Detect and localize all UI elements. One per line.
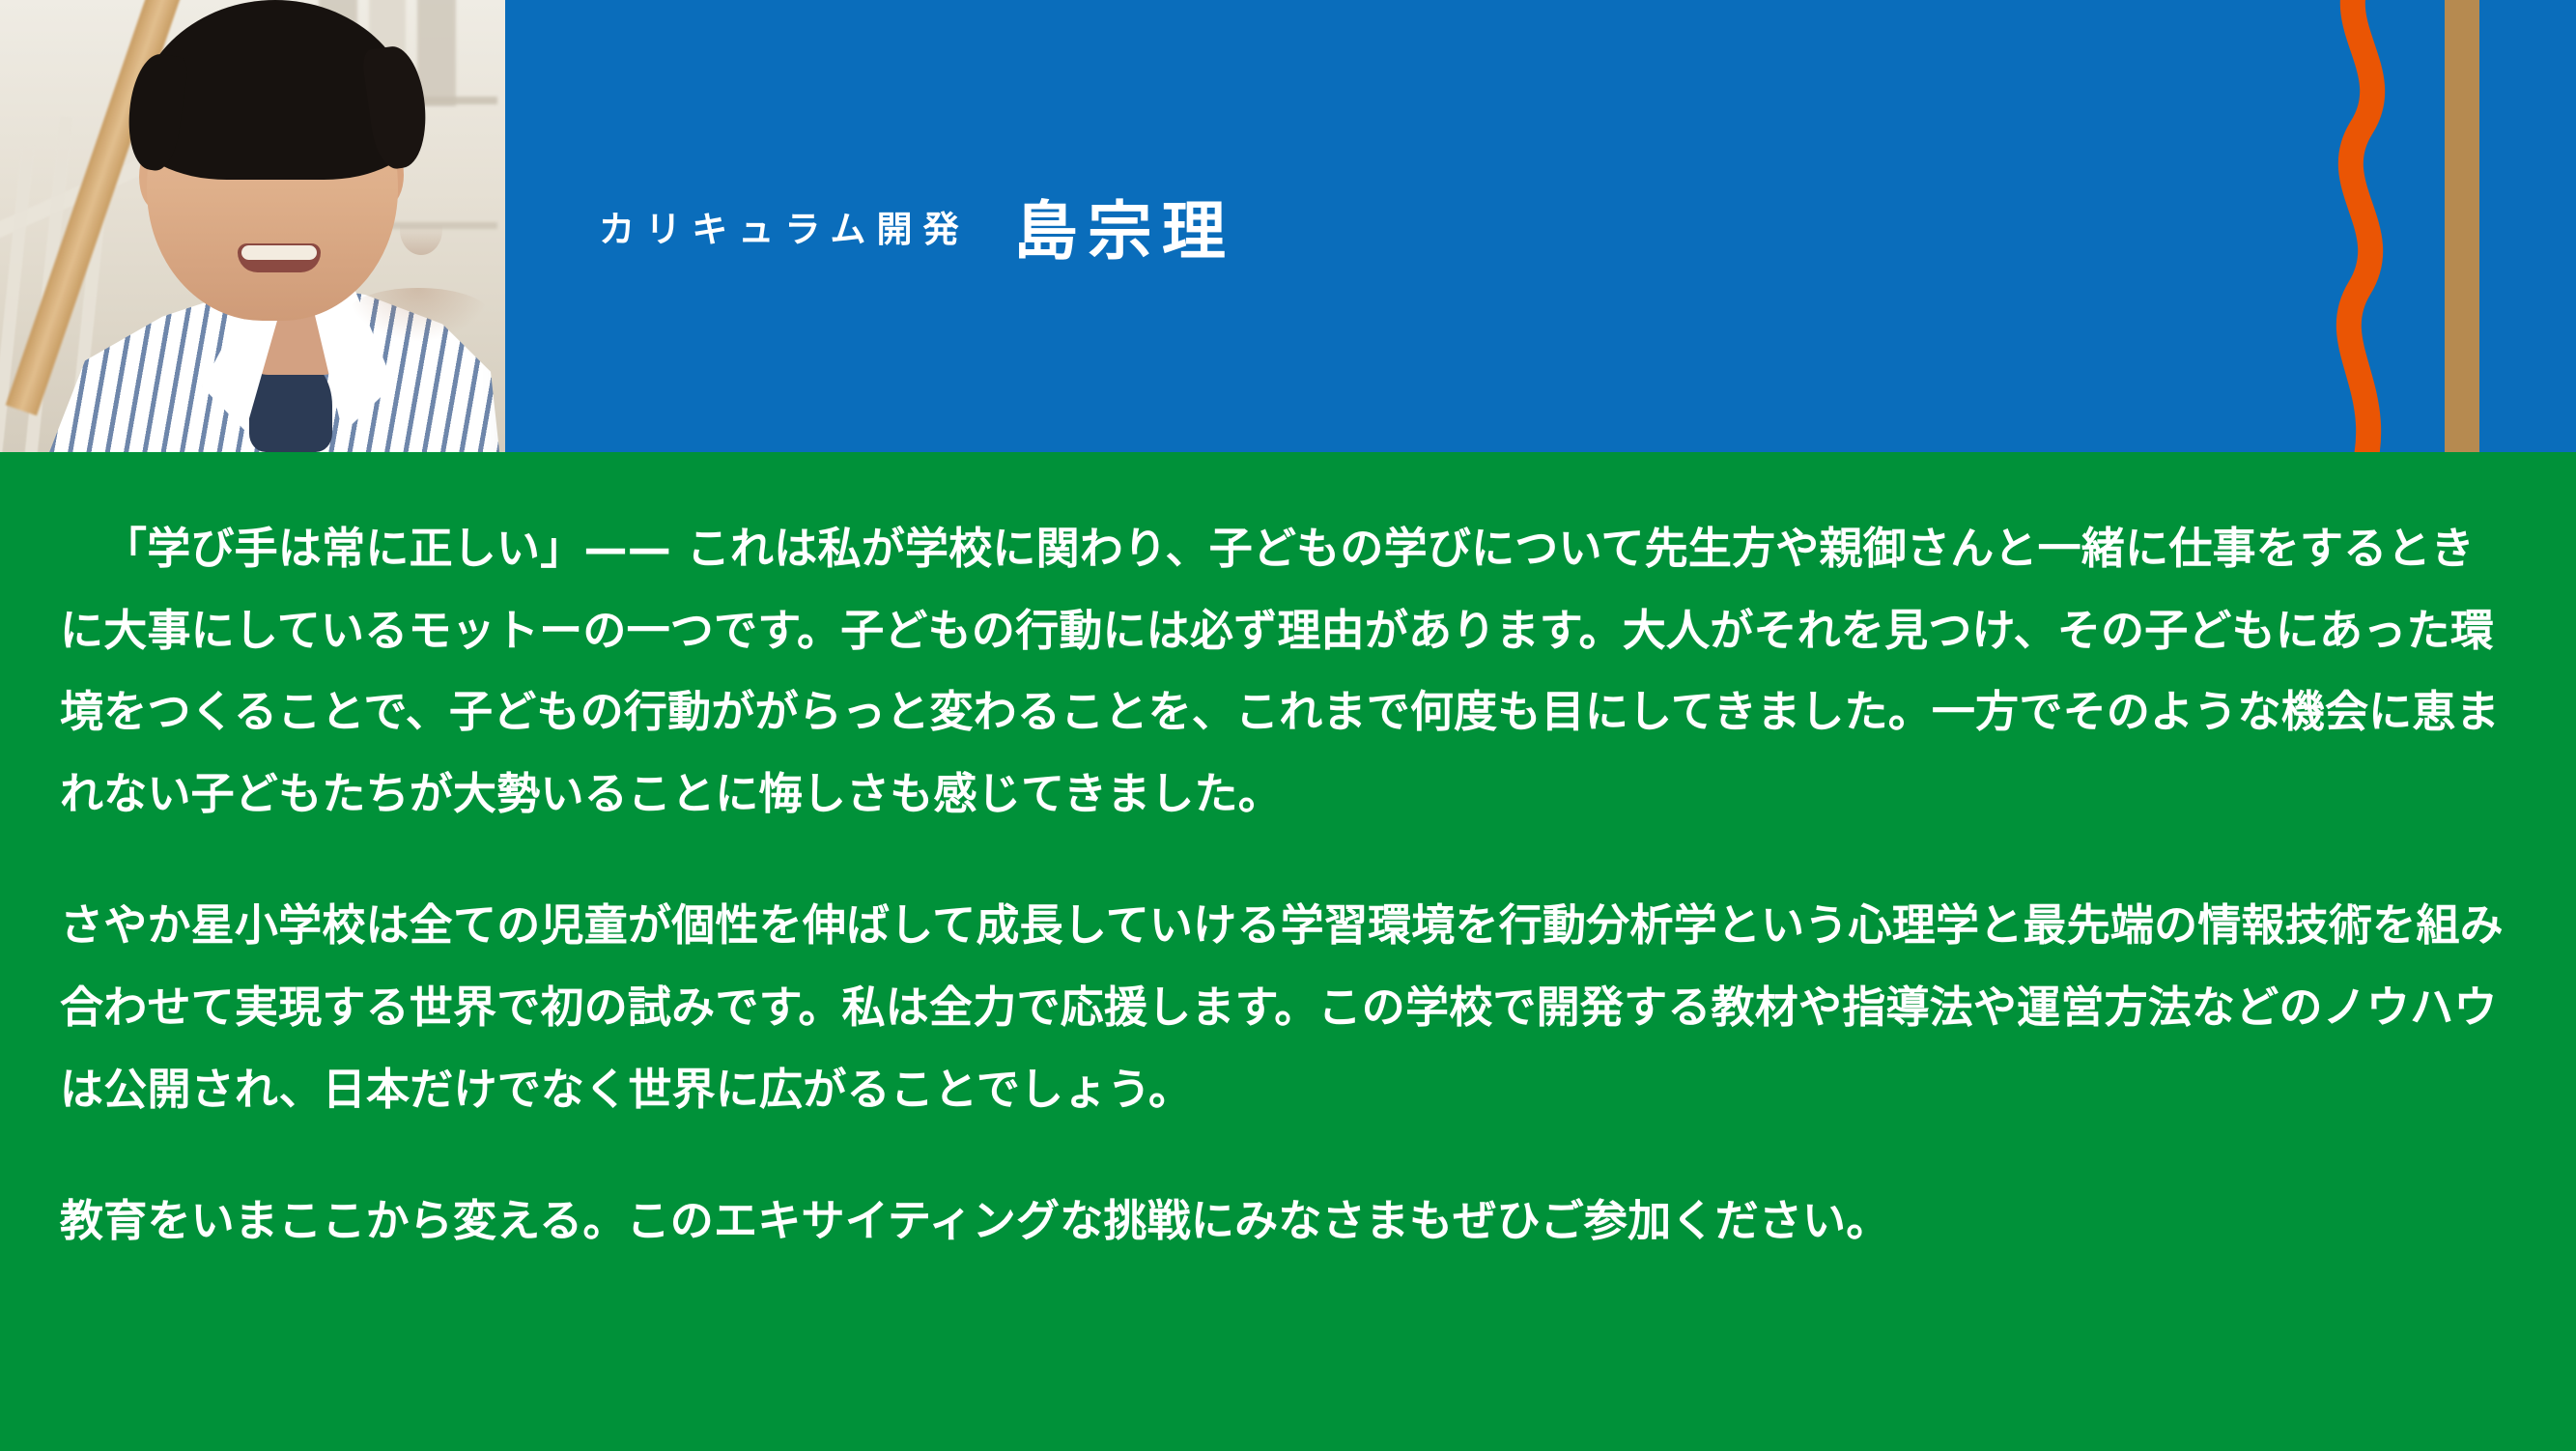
profile-message-page: カリキュラム開発 島宗理 「学び手は常に正しい」—— これは私が学校に関わり、子… [0,0,2576,1451]
portrait-chin-shadow [346,288,491,342]
portrait-teeth [241,245,317,260]
message-section: 「学び手は常に正しい」—— これは私が学校に関わり、子どもの学びについて先生方や… [0,452,2576,1451]
profile-header: カリキュラム開発 島宗理 [0,0,2576,452]
orange-wavy-line-icon [2306,0,2410,452]
portrait-bg-panel [417,0,456,106]
role-label: カリキュラム開発 [599,200,970,252]
tan-vertical-bar-icon [2445,0,2479,452]
message-paragraph: 教育をいまここから変える。このエキサイティングな挑戦にみなさまもぜひご参加くださ… [60,1181,2516,1263]
message-paragraph: さやか星小学校は全ての児童が個性を伸ばして成長していける学習環境を行動分析学とい… [60,885,2516,1130]
portrait-mouth [238,243,321,272]
person-name: 島宗理 [1014,180,1236,272]
portrait-photo [0,0,505,452]
message-paragraph: 「学び手は常に正しい」—— これは私が学校に関わり、子どもの学びについて先生方や… [60,508,2516,835]
header-title-group: カリキュラム開発 島宗理 [599,0,1235,452]
portrait-nose [400,205,442,255]
